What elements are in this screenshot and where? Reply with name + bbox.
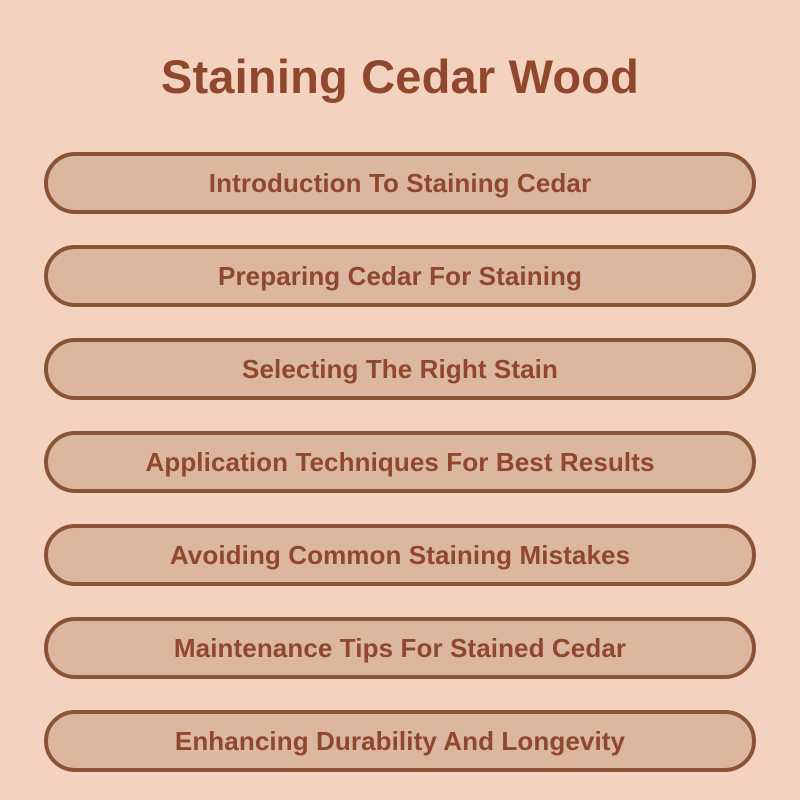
list-item[interactable]: Selecting The Right Stain bbox=[44, 338, 756, 400]
list-item[interactable]: Enhancing Durability And Longevity bbox=[44, 710, 756, 772]
title-container: Staining Cedar Wood bbox=[0, 0, 800, 152]
list-item-label: Avoiding Common Staining Mistakes bbox=[152, 542, 648, 568]
list-item[interactable]: Avoiding Common Staining Mistakes bbox=[44, 524, 756, 586]
list-item[interactable]: Preparing Cedar For Staining bbox=[44, 245, 756, 307]
list-item-label: Introduction To Staining Cedar bbox=[191, 170, 609, 196]
list-item-label: Maintenance Tips For Stained Cedar bbox=[156, 635, 644, 661]
list-item-label: Application Techniques For Best Results bbox=[127, 449, 672, 475]
list-item-label: Preparing Cedar For Staining bbox=[200, 263, 600, 289]
infographic-root: Staining Cedar Wood Introduction To Stai… bbox=[0, 0, 800, 800]
topic-list: Introduction To Staining Cedar Preparing… bbox=[44, 152, 756, 800]
list-item[interactable]: Application Techniques For Best Results bbox=[44, 431, 756, 493]
list-item[interactable]: Maintenance Tips For Stained Cedar bbox=[44, 617, 756, 679]
page-title: Staining Cedar Wood bbox=[161, 53, 639, 100]
list-item[interactable]: Introduction To Staining Cedar bbox=[44, 152, 756, 214]
list-item-label: Selecting The Right Stain bbox=[224, 356, 576, 382]
list-item-label: Enhancing Durability And Longevity bbox=[157, 728, 643, 754]
